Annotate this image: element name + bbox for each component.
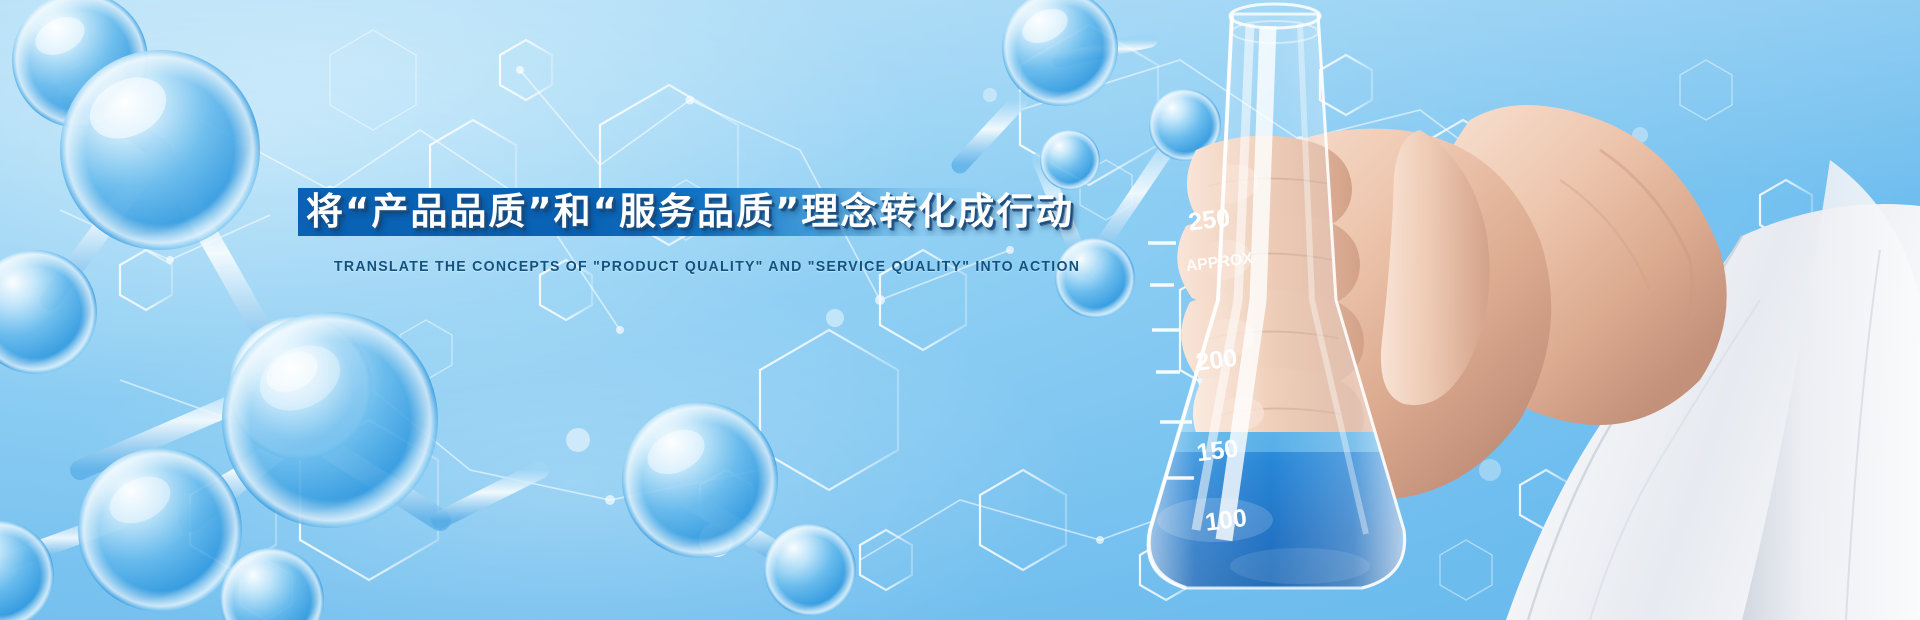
headline-band: 将“产品品质”和“服务品质”理念转化成行动	[298, 188, 998, 236]
background-lighting-overlay	[0, 0, 1920, 620]
molecule-spheres-background	[0, 0, 1920, 620]
flask-mark-250: 250	[1187, 204, 1232, 237]
hero-banner: 250 APPROX 200 150 100 将“产品品质”和“服务品质”理念转…	[0, 0, 1920, 620]
flask-mark-150: 150	[1195, 434, 1240, 467]
flask-mark-approx: APPROX	[1185, 250, 1254, 275]
flask-mark-200: 200	[1194, 344, 1239, 377]
hand-holding-flask-photo: 250 APPROX 200 150 100	[1000, 0, 1920, 620]
flask-mark-100: 100	[1204, 504, 1249, 537]
page-title: 将“产品品质”和“服务品质”理念转化成行动	[306, 172, 1074, 252]
hexagon-network-overlay	[0, 0, 1920, 620]
background-glow	[0, 0, 1920, 620]
hero-text-block: 将“产品品质”和“服务品质”理念转化成行动 TRANSLATE THE CONC…	[298, 188, 998, 275]
page-subtitle: TRANSLATE THE CONCEPTS OF "PRODUCT QUALI…	[334, 258, 958, 275]
